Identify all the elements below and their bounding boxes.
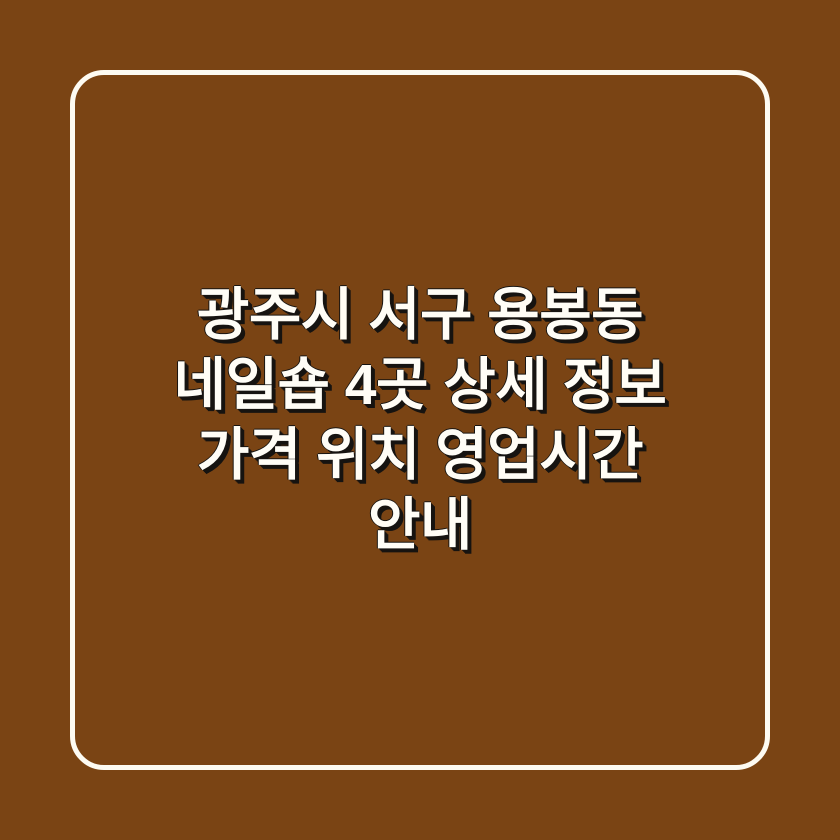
title-line-2: 네일숍 4곳 상세 정보 bbox=[84, 350, 756, 420]
poster-canvas: 광주시 서구 용봉동 네일숍 4곳 상세 정보 가격 위치 영업시간 안내 bbox=[0, 0, 840, 840]
title-line-4: 안내 bbox=[84, 490, 756, 560]
title-line-1: 광주시 서구 용봉동 bbox=[84, 280, 756, 350]
title-line-3: 가격 위치 영업시간 bbox=[84, 420, 756, 490]
poster-title-block: 광주시 서구 용봉동 네일숍 4곳 상세 정보 가격 위치 영업시간 안내 bbox=[70, 70, 770, 770]
